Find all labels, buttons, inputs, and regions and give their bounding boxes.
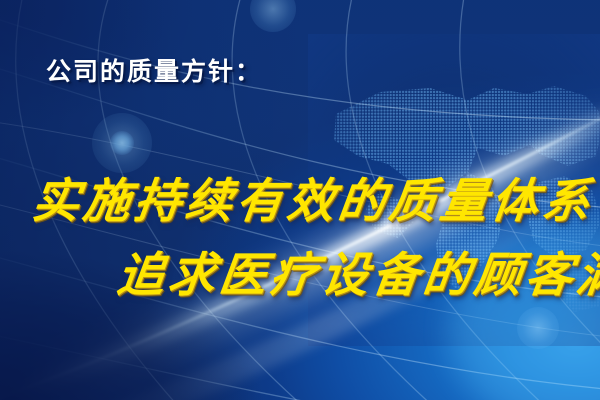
page-title: 公司的质量方针： (46, 52, 262, 88)
slogan-line-1: 实施持续有效的质量体系 (29, 162, 598, 231)
slogan-line-2: 追求医疗设备的顾客满意 (114, 236, 600, 305)
slide-canvas: 公司的质量方针： 实施持续有效的质量体系 追求医疗设备的顾客满意 (0, 0, 600, 400)
